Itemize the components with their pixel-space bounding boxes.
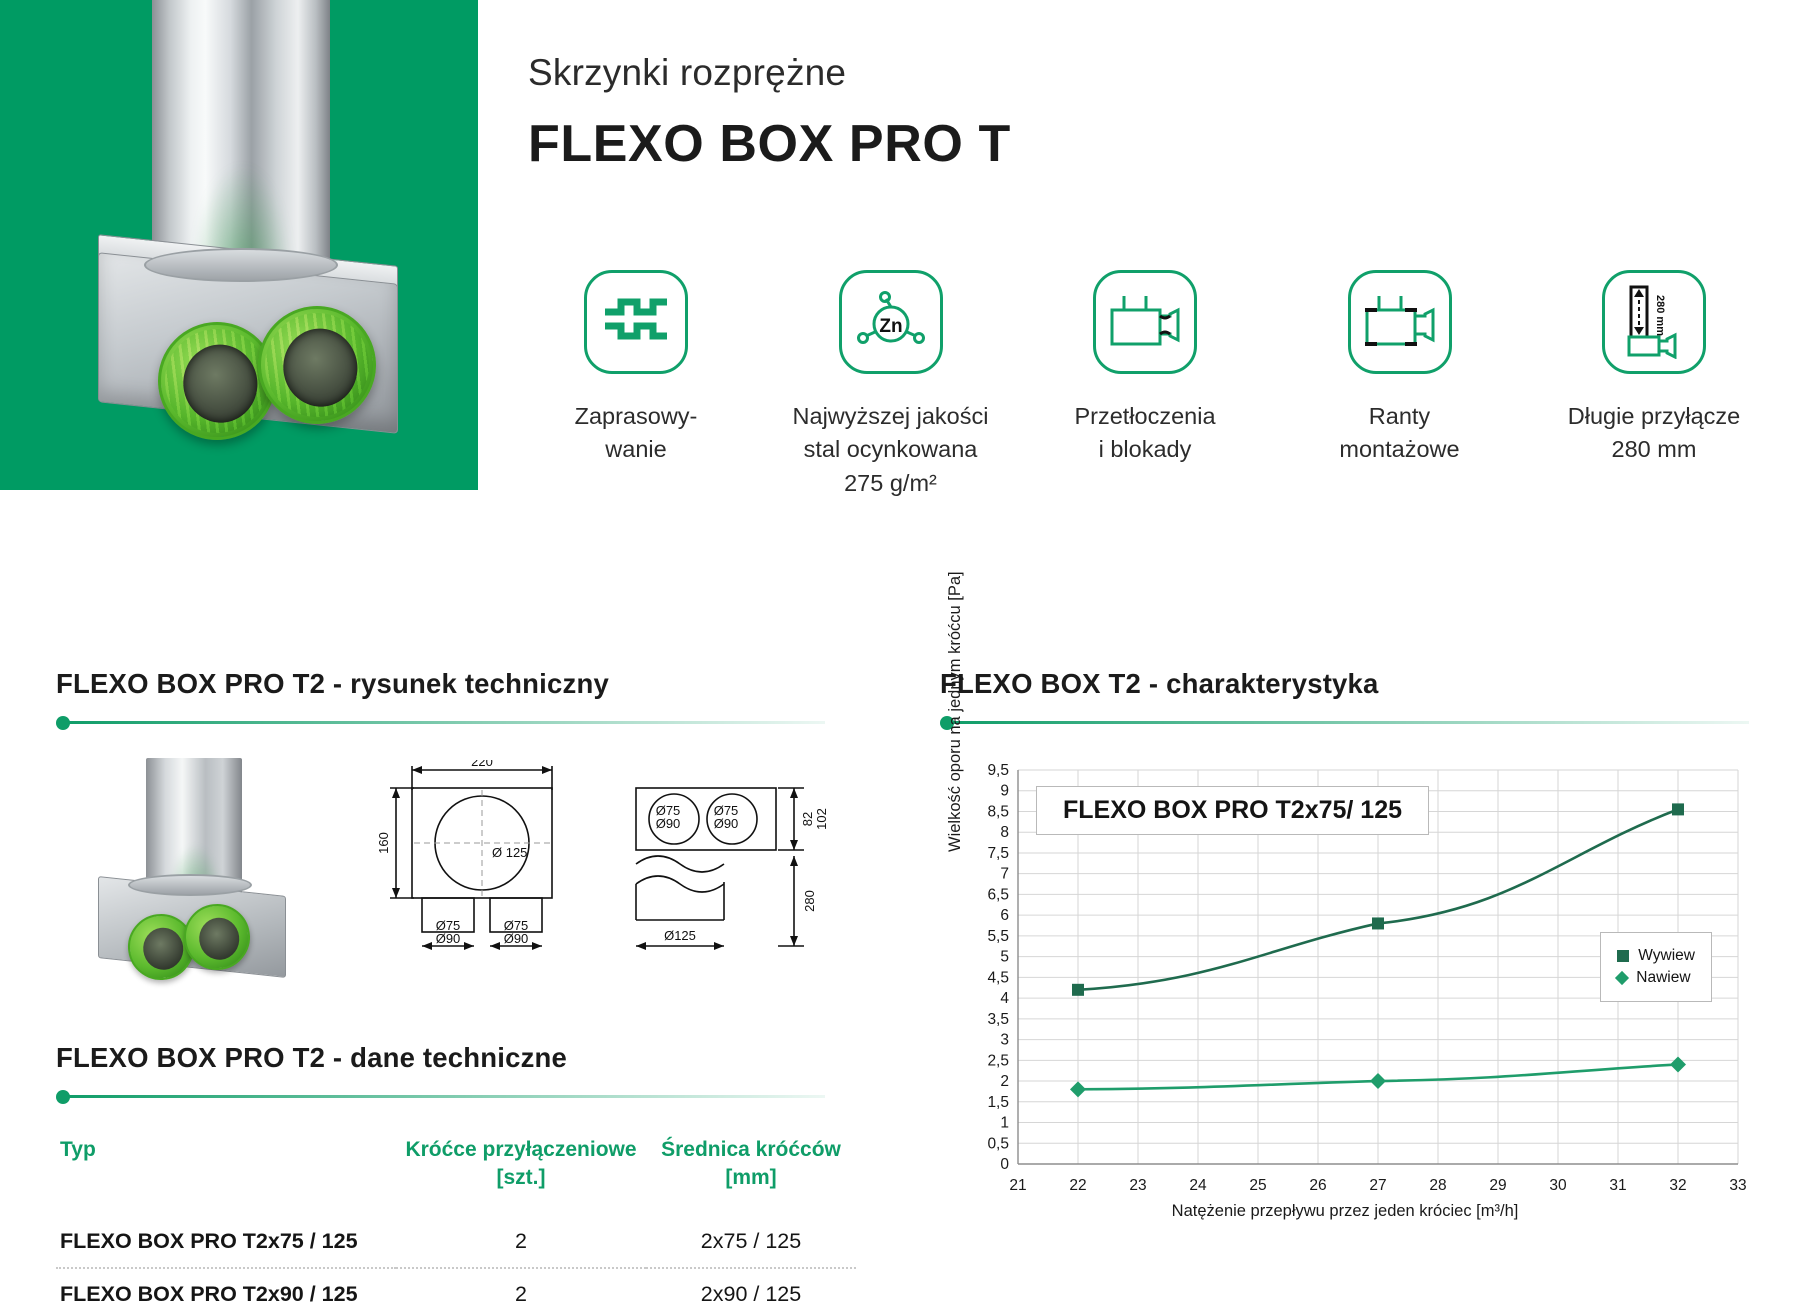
dim-main-duct-label: Ø 125 <box>492 845 527 860</box>
drawing-product-photo <box>66 762 366 982</box>
data-point-wywiew <box>1672 803 1684 815</box>
y-tick-label: 2,5 <box>987 1052 1009 1069</box>
y-tick-label: 7,5 <box>987 845 1009 862</box>
chart-legend: Wywiew Nawiew <box>1600 932 1712 1002</box>
data-point-nawiew <box>1670 1056 1686 1072</box>
performance-chart: Wielkość oporu na jednym króćcu [Pa] FLE… <box>940 756 1750 1226</box>
dim-spigot2-lower: Ø90 <box>504 931 529 946</box>
feature-item-galvanized-steel: Zn Najwyższej jakości stal ocynkowana 27… <box>775 270 1007 500</box>
side-spigot2-lower: Ø90 <box>714 816 739 831</box>
dim-spigot1-lower: Ø90 <box>436 931 461 946</box>
feature-caption: Zaprasowy- wanie <box>575 400 698 467</box>
rule-dot <box>56 716 70 730</box>
x-tick-label: 31 <box>1609 1177 1626 1194</box>
y-tick-label: 8 <box>1000 824 1009 841</box>
right-column: FLEXO BOX T2 - charakterystyka Wielkość … <box>940 668 1750 1226</box>
feature-item-long-connector: 280 mm Długie przyłącze 280 mm <box>1538 270 1770 500</box>
x-tick-label: 32 <box>1669 1177 1686 1194</box>
x-tick-label: 29 <box>1489 1177 1506 1194</box>
x-tick-label: 23 <box>1129 1177 1146 1194</box>
y-tick-label: 5,5 <box>987 928 1009 945</box>
caption-line: i blokady <box>1074 433 1215 466</box>
rule-line <box>65 1095 825 1098</box>
feature-item-crimping: Zaprasowy- wanie <box>520 270 752 500</box>
feature-caption: Przetłoczenia i blokady <box>1074 400 1215 467</box>
y-tick-label: 3,5 <box>987 1011 1009 1028</box>
y-tick-label: 4,5 <box>987 969 1009 986</box>
dim-outlet-label: Ø125 <box>664 928 696 943</box>
feature-caption: Długie przyłącze 280 mm <box>1568 400 1740 467</box>
spec-table-block: FLEXO BOX PRO T2 - dane techniczne Typ K… <box>56 1042 856 1311</box>
rule-line <box>949 721 1749 724</box>
header-unit: [szt.] <box>400 1164 642 1192</box>
caption-line: Zaprasowy- <box>575 400 698 433</box>
data-point-wywiew <box>1072 984 1084 996</box>
photo-flange <box>128 874 252 896</box>
product-flange <box>144 248 338 282</box>
caption-line: 280 mm <box>1568 433 1740 466</box>
data-point-nawiew <box>1370 1073 1386 1089</box>
y-tick-label: 8,5 <box>987 803 1009 820</box>
y-tick-label: 6 <box>1000 907 1009 924</box>
legend-marker-diamond <box>1615 971 1629 985</box>
y-tick-label: 4 <box>1000 990 1009 1007</box>
y-tick-label: 1 <box>1000 1115 1009 1132</box>
dim-side-a-label: 82 <box>800 812 815 826</box>
dim-side-b-label: 102 <box>814 808 829 830</box>
long-connector-icon: 280 mm <box>1602 270 1706 374</box>
chart-x-axis-label: Natężenie przepływu przez jeden króciec … <box>940 1202 1750 1221</box>
y-tick-label: 9,5 <box>987 762 1009 779</box>
feature-list: Zaprasowy- wanie Zn Najwyższej jakości <box>520 270 1770 500</box>
technical-drawing: 220 160 Ø 125 Ø75 Ø90 Ø75 Ø90 Ø75 Ø90 Ø7… <box>56 760 856 990</box>
data-point-nawiew <box>1070 1081 1086 1097</box>
col-header-srednica: Średnica króćców [mm] <box>646 1130 856 1215</box>
x-tick-label: 24 <box>1189 1177 1207 1194</box>
legend-item-nawiew: Nawiew <box>1617 969 1695 987</box>
hero-text-block: Skrzynki rozprężne FLEXO BOX PRO T <box>528 52 1011 174</box>
y-tick-label: 3 <box>1000 1032 1009 1049</box>
section-rule <box>56 716 856 730</box>
chart-section-title: FLEXO BOX T2 - charakterystyka <box>940 668 1750 700</box>
data-point-wywiew <box>1372 917 1384 929</box>
header-unit: [mm] <box>650 1164 852 1192</box>
legend-item-wywiew: Wywiew <box>1617 947 1695 965</box>
caption-line: montażowe <box>1339 433 1459 466</box>
y-tick-label: 0 <box>1000 1156 1009 1173</box>
box-embossing-icon <box>1093 270 1197 374</box>
y-tick-label: 0,5 <box>987 1135 1009 1152</box>
x-tick-label: 25 <box>1249 1177 1266 1194</box>
x-tick-label: 21 <box>1009 1177 1026 1194</box>
caption-line: stal ocynkowana <box>793 433 989 466</box>
caption-line: 275 g/m² <box>793 467 989 500</box>
crimp-pattern-icon <box>584 270 688 374</box>
cad-drawing: 220 160 Ø 125 Ø75 Ø90 Ø75 Ø90 Ø75 Ø90 Ø7… <box>374 760 854 985</box>
x-tick-label: 28 <box>1429 1177 1446 1194</box>
hero-product-photo <box>40 0 470 500</box>
datasheet-page: Skrzynki rozprężne FLEXO BOX PRO T Zapra… <box>0 0 1800 1311</box>
caption-line: Najwyższej jakości <box>793 400 989 433</box>
cell-srednica: 2x90 / 125 <box>646 1268 856 1311</box>
left-column: FLEXO BOX PRO T2 - rysunek techniczny <box>56 668 856 1311</box>
legend-label: Nawiew <box>1636 969 1690 987</box>
y-tick-label: 9 <box>1000 783 1009 800</box>
zinc-molecule-icon: Zn <box>839 270 943 374</box>
rule-line <box>65 721 825 724</box>
cell-srednica: 2x75 / 125 <box>646 1215 856 1268</box>
mounting-edges-icon <box>1348 270 1452 374</box>
y-tick-label: 6,5 <box>987 886 1009 903</box>
table-row: FLEXO BOX PRO T2x90 / 125 2 2x90 / 125 <box>56 1268 856 1311</box>
data-section-title: FLEXO BOX PRO T2 - dane techniczne <box>56 1042 856 1074</box>
cell-krocce: 2 <box>396 1215 646 1268</box>
legend-label: Wywiew <box>1638 947 1695 965</box>
nozzle-bore <box>141 925 186 972</box>
cell-typ: FLEXO BOX PRO T2x75 / 125 <box>56 1215 396 1268</box>
col-header-typ: Typ <box>56 1130 396 1215</box>
dim-height-label: 160 <box>376 832 391 854</box>
y-tick-label: 2 <box>1000 1073 1009 1090</box>
nozzle-bore <box>197 915 242 962</box>
cell-krocce: 2 <box>396 1268 646 1311</box>
caption-line: Przetłoczenia <box>1074 400 1215 433</box>
section-rule <box>56 1090 856 1104</box>
cell-typ: FLEXO BOX PRO T2x90 / 125 <box>56 1268 396 1311</box>
table-row: FLEXO BOX PRO T2x75 / 125 2 2x75 / 125 <box>56 1215 856 1268</box>
col-header-krocce: Króćce przyłączeniowe [szt.] <box>396 1130 646 1215</box>
header-line: Średnica króćców <box>650 1136 852 1164</box>
section-rule <box>940 716 1750 730</box>
legend-marker-square <box>1617 950 1629 962</box>
dim-width-label: 220 <box>471 760 493 769</box>
side-spigot1-lower: Ø90 <box>656 816 681 831</box>
dim-length-label: 280 <box>802 890 817 912</box>
chart-title: FLEXO BOX PRO T2x75/ 125 <box>1036 786 1429 835</box>
x-tick-label: 30 <box>1549 1177 1567 1194</box>
y-tick-label: 1,5 <box>987 1094 1009 1111</box>
feature-item-embossing: Przetłoczenia i blokady <box>1029 270 1261 500</box>
caption-line: Długie przyłącze <box>1568 400 1740 433</box>
rule-dot <box>56 1090 70 1104</box>
zinc-symbol-text: Zn <box>879 316 902 337</box>
caption-line: wanie <box>575 433 698 466</box>
header-line: Króćce przyłączeniowe <box>400 1136 642 1164</box>
connector-dim-text: 280 mm <box>1654 295 1666 336</box>
x-tick-label: 22 <box>1069 1177 1086 1194</box>
feature-item-mounting-edges: Ranty montażowe <box>1284 270 1516 500</box>
x-tick-label: 33 <box>1729 1177 1746 1194</box>
spec-table: Typ Króćce przyłączeniowe [szt.] Średnic… <box>56 1130 856 1311</box>
y-tick-label: 7 <box>1000 866 1009 883</box>
page-title: FLEXO BOX PRO T <box>528 114 1011 174</box>
feature-caption: Najwyższej jakości stal ocynkowana 275 g… <box>793 400 989 500</box>
x-tick-label: 26 <box>1309 1177 1326 1194</box>
header-line: Typ <box>60 1136 392 1164</box>
caption-line: Ranty <box>1339 400 1459 433</box>
y-tick-label: 5 <box>1000 949 1009 966</box>
hero-kicker: Skrzynki rozprężne <box>528 52 1011 94</box>
drawing-section-title: FLEXO BOX PRO T2 - rysunek techniczny <box>56 668 856 700</box>
table-header-row: Typ Króćce przyłączeniowe [szt.] Średnic… <box>56 1130 856 1215</box>
feature-caption: Ranty montażowe <box>1339 400 1459 467</box>
x-tick-label: 27 <box>1369 1177 1386 1194</box>
